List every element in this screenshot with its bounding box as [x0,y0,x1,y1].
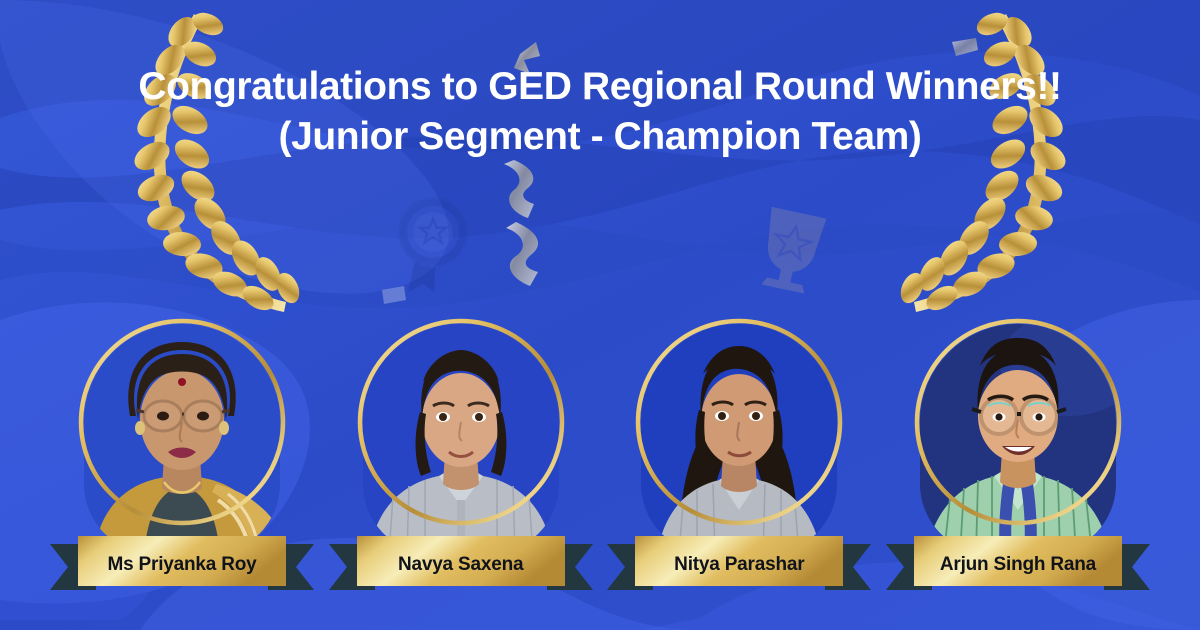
winner-name: Nitya Parashar [607,534,871,596]
name-ribbon: Arjun Singh Rana [886,534,1150,596]
name-ribbon: Nitya Parashar [607,534,871,596]
winner-name: Arjun Singh Rana [886,534,1150,596]
winner-name: Ms Priyanka Roy [50,534,314,596]
title-line-1: Congratulations to GED Regional Round Wi… [0,62,1200,112]
name-ribbon: Ms Priyanka Roy [50,534,314,596]
laurel-wreath-right-icon [887,8,1102,318]
winner-name: Navya Saxena [329,534,593,596]
winner-card: Ms Priyanka Roy [62,318,302,618]
congratulations-banner: Congratulations to GED Regional Round Wi… [0,0,1200,630]
laurel-wreath-left-icon [98,8,313,318]
photo-ring-frame [357,318,565,526]
winner-card: Arjun Singh Rana [898,318,1138,618]
winner-card: Nitya Parashar [619,318,859,618]
photo-ring-frame [635,318,843,526]
photo-ring-frame [78,318,286,526]
page-title: Congratulations to GED Regional Round Wi… [0,62,1200,162]
name-ribbon: Navya Saxena [329,534,593,596]
winner-card: Navya Saxena [341,318,581,618]
title-line-2: (Junior Segment - Champion Team) [0,112,1200,162]
photo-ring-frame [914,318,1122,526]
winners-row: Ms Priyanka Roy [0,318,1200,618]
